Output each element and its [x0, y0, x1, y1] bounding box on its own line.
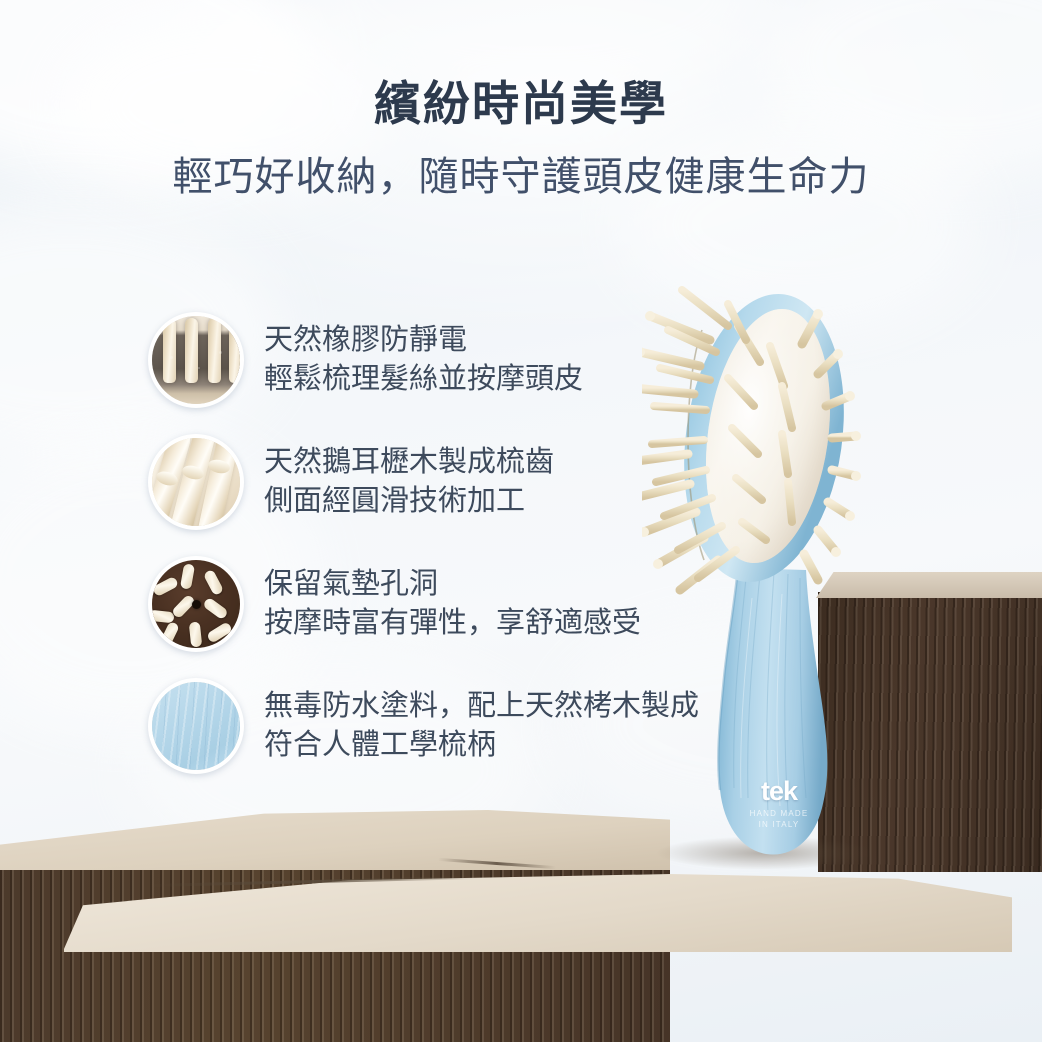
- cushion-texture: [152, 560, 240, 648]
- feature-line-1: 無毒防水塗料，配上天然栲木製成: [264, 687, 699, 726]
- rubber-texture: [152, 316, 240, 404]
- air-cushion-hole-thumbnail: [148, 556, 244, 652]
- headline-group: 繽紛時尚美學 輕巧好收納，隨時守護頭皮健康生命力: [0, 78, 1042, 200]
- feature-text: 保留氣墊孔洞 按摩時富有彈性，享舒適感受: [264, 565, 641, 642]
- feature-text: 天然鵝耳櫪木製成梳齒 側面經圓滑技術加工: [264, 443, 554, 520]
- wood-pin-texture: [152, 438, 240, 526]
- hornbeam-wood-pins-thumbnail: [148, 434, 244, 530]
- natural-rubber-cushion-thumbnail: [148, 312, 244, 408]
- feature-list: 天然橡膠防靜電 輕鬆梳理髮絲並按摩頭皮 天然鵝耳櫪木製成梳齒 側面經圓滑技術加工: [148, 312, 748, 800]
- blue-wood-texture: [152, 682, 240, 770]
- feature-item: 保留氣墊孔洞 按摩時富有彈性，享舒適感受: [148, 556, 748, 652]
- product-feature-banner: 繽紛時尚美學 輕巧好收納，隨時守護頭皮健康生命力 天然橡膠防靜電 輕鬆梳理髮絲並…: [0, 0, 1042, 1042]
- feature-text: 天然橡膠防靜電 輕鬆梳理髮絲並按摩頭皮: [264, 321, 583, 398]
- feature-line-1: 天然鵝耳櫪木製成梳齒: [264, 443, 554, 482]
- page-subtitle: 輕巧好收納，隨時守護頭皮健康生命力: [0, 154, 1042, 200]
- feature-item: 天然鵝耳櫪木製成梳齒 側面經圓滑技術加工: [148, 434, 748, 530]
- feature-item: 無毒防水塗料，配上天然栲木製成 符合人體工學梳柄: [148, 678, 748, 774]
- podium-block-front: [72, 940, 1002, 1042]
- feature-line-2: 符合人體工學梳柄: [264, 726, 699, 765]
- feature-line-2: 輕鬆梳理髮絲並按摩頭皮: [264, 360, 583, 399]
- feature-line-1: 保留氣墊孔洞: [264, 565, 641, 604]
- feature-item: 天然橡膠防靜電 輕鬆梳理髮絲並按摩頭皮: [148, 312, 748, 408]
- blue-waterproof-paint-thumbnail: [148, 678, 244, 774]
- feature-text: 無毒防水塗料，配上天然栲木製成 符合人體工學梳柄: [264, 687, 699, 764]
- feature-line-2: 側面經圓滑技術加工: [264, 482, 554, 521]
- page-title: 繽紛時尚美學: [0, 78, 1042, 130]
- feature-line-1: 天然橡膠防靜電: [264, 321, 583, 360]
- feature-line-2: 按摩時富有彈性，享舒適感受: [264, 604, 641, 643]
- podium-top-face: [0, 810, 670, 870]
- air-hole: [192, 600, 201, 609]
